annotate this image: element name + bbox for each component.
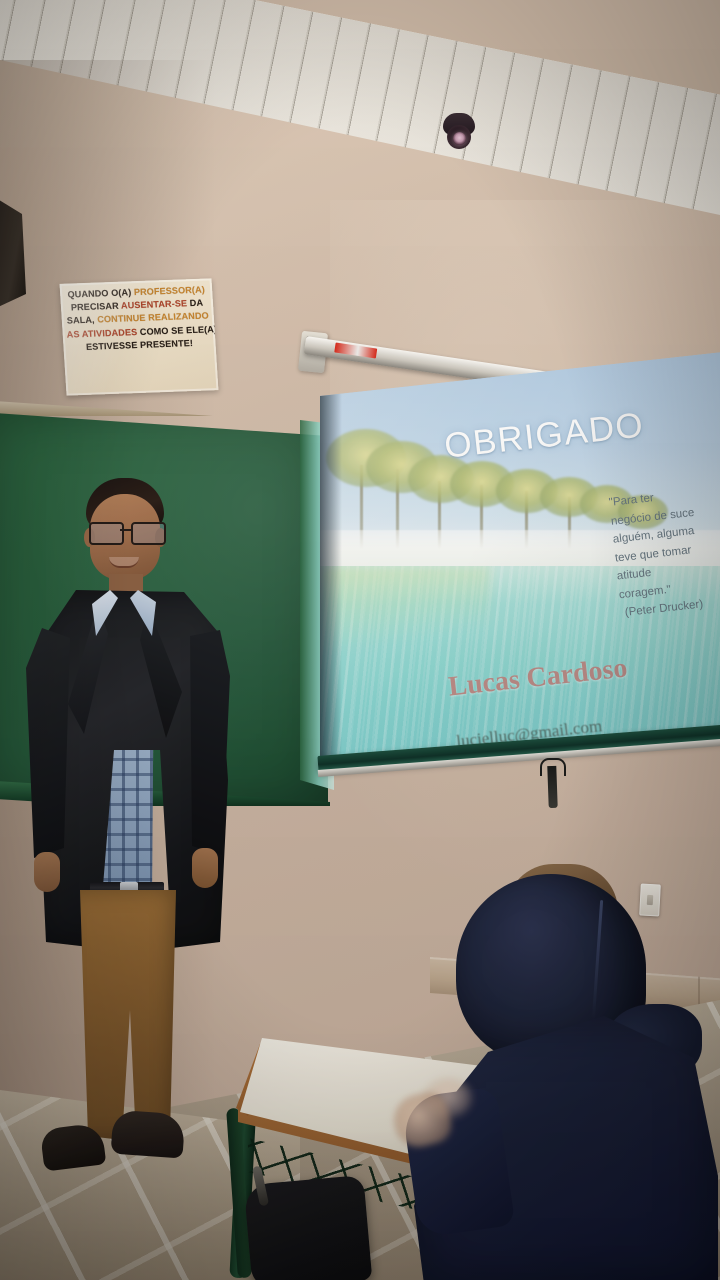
- poster-text-segment: ESTIVESSE PRESENTE!: [86, 338, 194, 352]
- poster-text-segment: PROFESSOR(A): [134, 285, 206, 298]
- eyeglasses-icon: [87, 522, 165, 542]
- presenter-trousers: [74, 890, 182, 1140]
- presenter-hand: [192, 848, 218, 888]
- poster-text-segment: PRECISAR: [71, 301, 122, 313]
- classroom-photo: QUANDO O(A) PROFESSOR(A) PRECISAR AUSENT…: [0, 0, 720, 1280]
- hood-seam: [592, 900, 603, 1020]
- water-green-band: [320, 566, 490, 656]
- security-camera-icon: [443, 113, 475, 150]
- seated-student: [398, 856, 718, 1280]
- glasses-lens: [131, 522, 166, 545]
- poster-text-segment: CONTINUE REALIZANDO: [97, 311, 209, 325]
- presenter-shoe: [111, 1110, 186, 1159]
- presenter-arm: [26, 628, 70, 858]
- glasses-bridge: [120, 529, 131, 531]
- slide-quote: "Para ter negócio de suce alguém, alguma…: [608, 478, 720, 623]
- presenter-person: [16, 478, 246, 1198]
- poster-text-segment: SALA,: [67, 315, 98, 326]
- roller-brand-label: [334, 342, 377, 358]
- poster-text-segment: COMO SE ELE(A): [137, 324, 217, 337]
- camera-lens: [453, 132, 466, 145]
- screen-pull-handle[interactable]: [547, 766, 557, 808]
- poster-text-segment: AS ATIVIDADES: [66, 327, 137, 340]
- glasses-lens: [89, 522, 124, 545]
- presenter-arm: [186, 630, 230, 855]
- presenter-hand: [34, 852, 60, 892]
- classroom-rule-poster: QUANDO O(A) PROFESSOR(A) PRECISAR AUSENT…: [60, 278, 219, 395]
- projection-screen: OBRIGADO "Para ter negócio de suce algué…: [320, 352, 720, 772]
- poster-text-segment: QUANDO O(A): [67, 287, 134, 299]
- poster-text-segment: AUSENTAR-SE: [121, 298, 188, 310]
- poster-text-segment: DA: [187, 298, 204, 309]
